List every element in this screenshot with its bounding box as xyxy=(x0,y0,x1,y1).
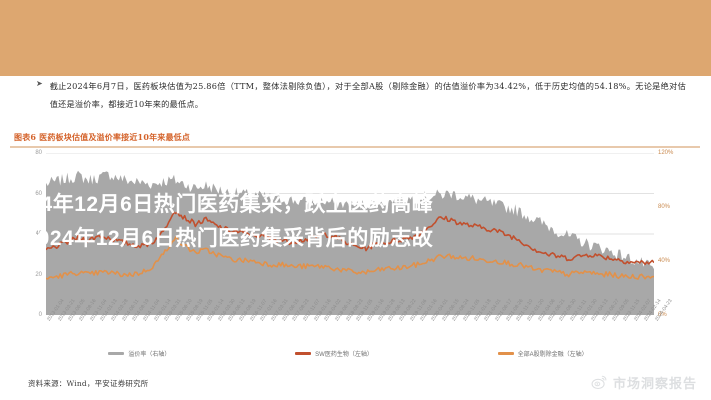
bullet-paragraph: ➤ 截止2024年6月7日，医药板块估值为25.86倍（TTM，整体法剔除负值）… xyxy=(36,77,686,113)
legend-swatch-icon xyxy=(498,352,514,355)
legend-label: SW医药生物（左轴） xyxy=(315,349,373,358)
slide-page: 1.4 医药行业估值及溢价率：接近10年来最低点 ➤ 截止2024年6月7日，医… xyxy=(0,0,711,400)
legend-label: 全部A股剔除金融（左轴） xyxy=(518,349,588,358)
headline-line-2: ，2024年12月6日热门医药集采背后的励志故 xyxy=(4,222,707,256)
y-tick-left: 20 xyxy=(35,272,42,278)
figure-caption: 图表6 医药板块估值及溢价率接近10年来最低点 xyxy=(14,132,190,143)
y-tick-right: 120% xyxy=(658,150,673,156)
weibo-icon xyxy=(591,374,608,391)
legend-item[interactable]: SW医药生物（左轴） xyxy=(295,349,373,358)
y-tick-left: 0 xyxy=(39,312,42,318)
legend-item[interactable]: 全部A股剔除金融（左轴） xyxy=(498,349,588,358)
chart-top-rule xyxy=(10,146,700,148)
watermark: 市场洞察报告 xyxy=(591,373,697,392)
y-tick-left: 80 xyxy=(35,150,42,156)
source-note: 资料来源：Wind，平安证券研究所 xyxy=(28,378,149,389)
headline-line-1: 2024年12月6日热门医药集采，跃上医药高峰 xyxy=(4,188,707,222)
chart-legend: 溢价率（右轴）SW医药生物（左轴）全部A股剔除金融（左轴） xyxy=(46,349,650,358)
bullet-text: 截止2024年6月7日，医药板块估值为25.86倍（TTM，整体法剔除负值），对… xyxy=(50,77,686,113)
legend-swatch-icon xyxy=(295,352,311,355)
headline-band xyxy=(0,0,711,76)
legend-swatch-icon xyxy=(108,352,124,355)
legend-item[interactable]: 溢价率（右轴） xyxy=(108,349,170,358)
legend-label: 溢价率（右轴） xyxy=(128,349,170,358)
article-headline: 2024年12月6日热门医药集采，跃上医药高峰 ，2024年12月6日热门医药集… xyxy=(0,184,711,260)
bullet-marker-icon: ➤ xyxy=(36,77,43,113)
watermark-text: 市场洞察报告 xyxy=(613,373,697,392)
